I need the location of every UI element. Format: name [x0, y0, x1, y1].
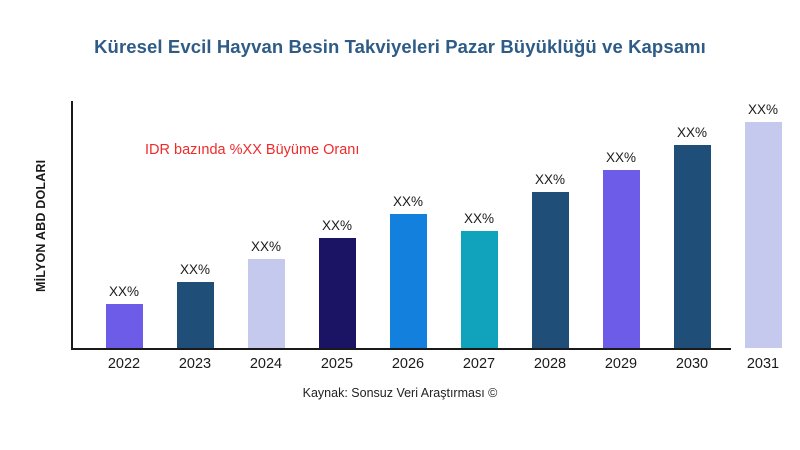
- bar-2022[interactable]: [106, 304, 143, 348]
- growth-rate-annotation: IDR bazında %XX Büyüme Oranı: [145, 142, 359, 158]
- bar-2027[interactable]: [461, 231, 498, 348]
- bar-value-label-2028: XX%: [515, 172, 585, 187]
- bar-value-label-2024: XX%: [231, 239, 301, 254]
- bar-value-label-2031: XX%: [728, 102, 798, 117]
- bar-2028[interactable]: [532, 192, 569, 348]
- bar-value-label-2027: XX%: [444, 211, 514, 226]
- x-tick-label-2023: 2023: [160, 356, 230, 372]
- bar-value-label-2026: XX%: [373, 194, 443, 209]
- bar-value-label-2022: XX%: [89, 284, 159, 299]
- x-tick-label-2022: 2022: [89, 356, 159, 372]
- bar-value-label-2030: XX%: [657, 125, 727, 140]
- bar-value-label-2025: XX%: [302, 218, 372, 233]
- bar-2025[interactable]: [319, 238, 356, 348]
- x-tick-label-2030: 2030: [657, 356, 727, 372]
- x-tick-label-2029: 2029: [586, 356, 656, 372]
- bar-2023[interactable]: [177, 282, 214, 348]
- x-tick-label-2031: 2031: [728, 356, 798, 372]
- bar-value-label-2023: XX%: [160, 262, 230, 277]
- x-tick-label-2027: 2027: [444, 356, 514, 372]
- bar-series: XX%2022XX%2023XX%2024XX%2025XX%2026XX%20…: [0, 0, 800, 450]
- x-tick-label-2024: 2024: [231, 356, 301, 372]
- bar-2026[interactable]: [390, 214, 427, 348]
- bar-2031[interactable]: [745, 122, 782, 348]
- x-tick-label-2026: 2026: [373, 356, 443, 372]
- x-tick-label-2025: 2025: [302, 356, 372, 372]
- bar-value-label-2029: XX%: [586, 150, 656, 165]
- x-tick-label-2028: 2028: [515, 356, 585, 372]
- bar-2029[interactable]: [603, 170, 640, 348]
- chart-container: Küresel Evcil Hayvan Besin Takviyeleri P…: [0, 0, 800, 450]
- bar-2024[interactable]: [248, 259, 285, 348]
- bar-2030[interactable]: [674, 145, 711, 348]
- source-caption: Kaynak: Sonsuz Veri Araştırması ©: [0, 386, 800, 400]
